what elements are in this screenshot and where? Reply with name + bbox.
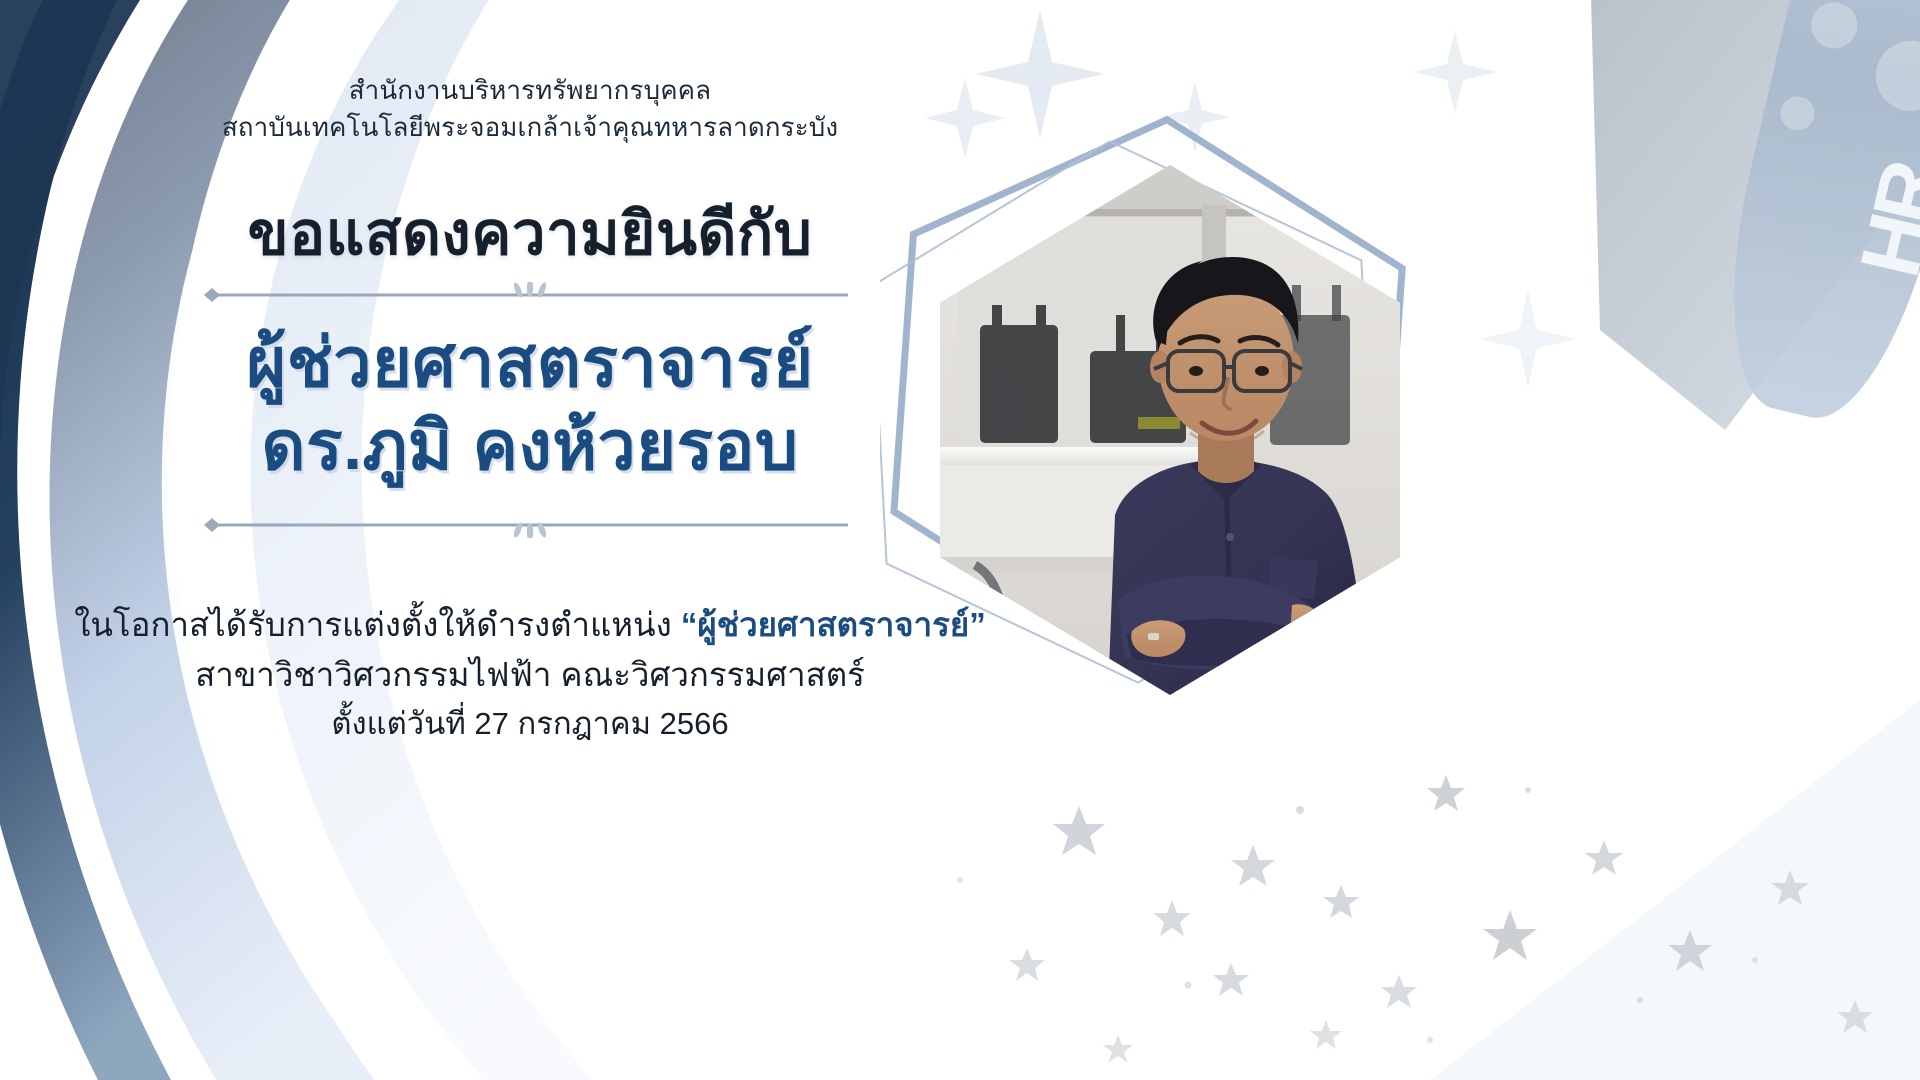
appointment-position: “ผู้ช่วยศาสตราจารย์”	[681, 606, 986, 643]
body-block: ในโอกาสได้รับการแต่งตั้งให้ดำรงตำแหน่ง “…	[0, 600, 1060, 747]
org-office-name: สำนักงานบริหารทรัพยากรบุคคล	[0, 72, 1060, 109]
honoree-title: ผู้ช่วยศาสตราจารย์	[0, 322, 1060, 405]
certificate-canvas: HR KMITL FIGHT	[0, 0, 1920, 1080]
greeting-heading: ขอแสดงความยินดีกับ	[0, 186, 1060, 281]
divider-bottom	[200, 512, 860, 538]
department-line: สาขาวิชาวิศวกรรมไฟฟ้า คณะวิศวกรรมศาสตร์	[0, 650, 1060, 700]
divider-top	[200, 282, 860, 308]
text-column: สำนักงานบริหารทรัพยากรบุคคล สถาบันเทคโนโ…	[0, 0, 1060, 1080]
appointment-line: ในโอกาสได้รับการแต่งตั้งให้ดำรงตำแหน่ง “…	[0, 600, 1060, 650]
organization-block: สำนักงานบริหารทรัพยากรบุคคล สถาบันเทคโนโ…	[0, 72, 1060, 146]
org-institute-name: สถาบันเทคโนโลยีพระจอมเกล้าเจ้าคุณทหารลาด…	[0, 109, 1060, 146]
effective-date-prefix: ตั้งแต่วันที่	[331, 706, 465, 741]
effective-date-value: 27 กรกฎาคม 2566	[474, 706, 728, 741]
effective-date-line: ตั้งแต่วันที่ 27 กรกฎาคม 2566	[0, 700, 1060, 747]
honoree-name: ดร.ภูมิ คงห้วยรอบ	[0, 405, 1060, 488]
honoree-block: ผู้ช่วยศาสตราจารย์ ดร.ภูมิ คงห้วยรอบ	[0, 322, 1060, 488]
appointment-prefix: ในโอกาสได้รับการแต่งตั้งให้ดำรงตำแหน่ง	[74, 606, 671, 643]
